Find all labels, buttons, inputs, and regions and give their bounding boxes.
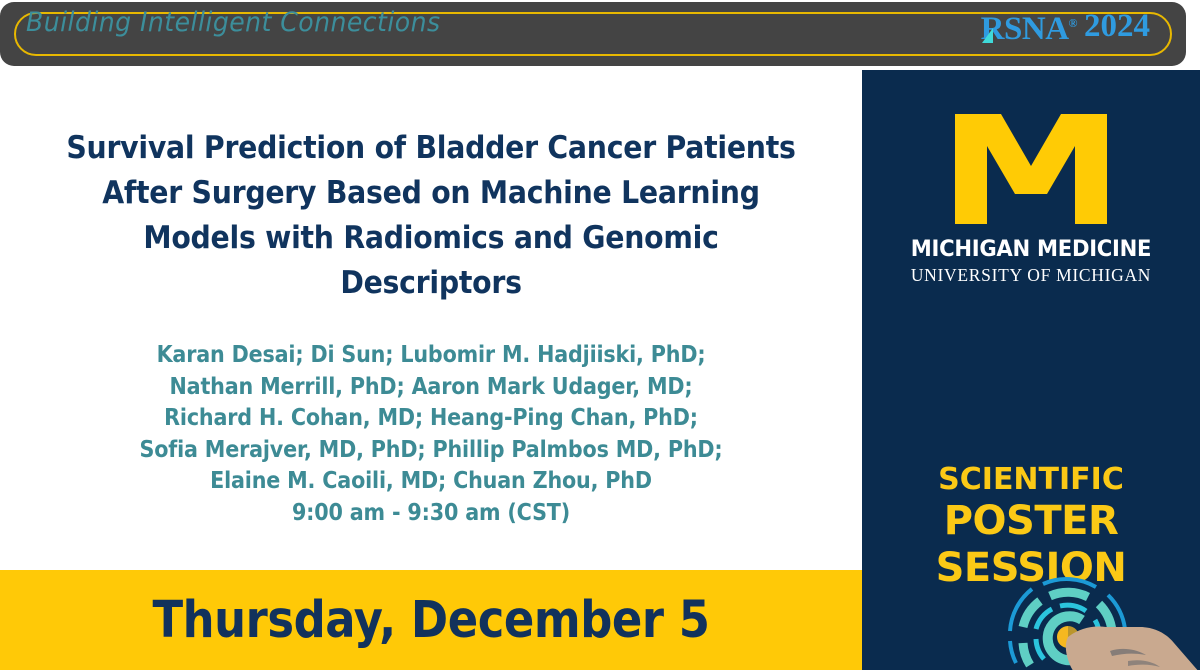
rsna-logo: RSNA® 2024 (981, 4, 1150, 48)
rsna-year: 2024 (1084, 7, 1150, 45)
author-line: Richard H. Cohan, MD; Heang-Ping Chan, P… (65, 403, 798, 435)
session-date: Thursday, December 5 (52, 570, 811, 670)
institution-subtitle: UNIVERSITY OF MICHIGAN (862, 265, 1200, 286)
rsna-brand-text: RSNA (981, 11, 1069, 47)
author-line: Elaine M. Caoili, MD; Chuan Zhou, PhD (65, 466, 798, 498)
author-line: Karan Desai; Di Sun; Lubomir M. Hadjiisk… (65, 340, 798, 372)
session-label-line-1: SCIENTIFIC (862, 462, 1200, 498)
top-banner: Building Intelligent Connections RSNA® 2… (0, 2, 1186, 66)
session-time: 9:00 am - 9:30 am (CST) (65, 498, 798, 530)
institution-name: MICHIGAN MEDICINE (872, 236, 1190, 262)
rsna-touch-logo-icon (1000, 565, 1200, 670)
author-line: Sofia Merajver, MD, PhD; Phillip Palmbos… (65, 435, 798, 467)
block-m-icon (955, 114, 1107, 224)
author-line: Nathan Merrill, PhD; Aaron Mark Udager, … (65, 372, 798, 404)
poster-canvas: Building Intelligent Connections RSNA® 2… (0, 0, 1200, 670)
michigan-medicine-logo: MICHIGAN MEDICINE UNIVERSITY OF MICHIGAN (862, 114, 1200, 286)
session-label-line-2: POSTER (862, 498, 1200, 545)
rsna-wordmark: RSNA® (981, 4, 1077, 48)
registered-mark-icon: ® (1069, 16, 1077, 30)
banner-tagline: Building Intelligent Connections (26, 7, 441, 39)
author-list: Karan Desai; Di Sun; Lubomir M. Hadjiisk… (65, 340, 798, 529)
date-bar: Thursday, December 5 (0, 570, 862, 670)
rsna-wedge-icon (982, 28, 993, 43)
page-title: Survival Prediction of Bladder Cancer Pa… (65, 126, 798, 306)
content-pane: Survival Prediction of Bladder Cancer Pa… (0, 70, 862, 570)
hand-pointer-icon (1066, 626, 1200, 670)
